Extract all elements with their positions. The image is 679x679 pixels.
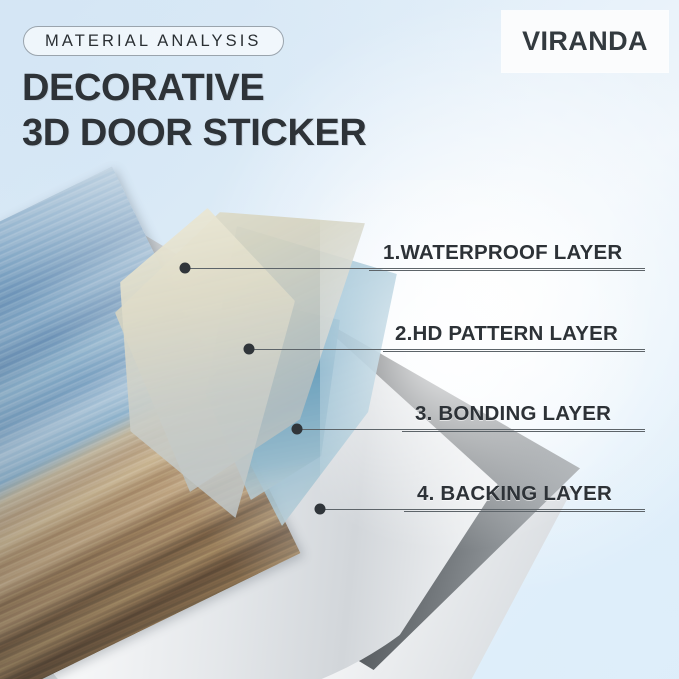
page-title: DECORATIVE 3D DOOR STICKER <box>22 66 366 156</box>
page-title-line-2: 3D DOOR STICKER <box>22 111 366 156</box>
material-analysis-infographic: MATERIAL ANALYSIS DECORATIVE 3D DOOR STI… <box>0 0 679 679</box>
material-analysis-badge: MATERIAL ANALYSIS <box>23 26 284 56</box>
brand-name: VIRANDA <box>522 26 648 57</box>
brand-logo-box: VIRANDA <box>502 11 668 72</box>
product-illustration <box>0 180 679 679</box>
page-title-line-1: DECORATIVE <box>22 66 366 111</box>
badge-label: MATERIAL ANALYSIS <box>45 32 262 51</box>
